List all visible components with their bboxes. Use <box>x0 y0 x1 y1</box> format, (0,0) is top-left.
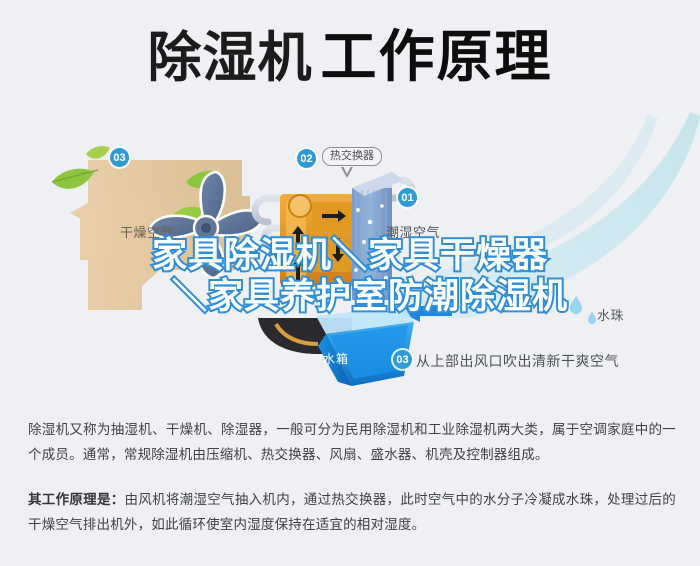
water-tank-graphic <box>316 306 414 386</box>
label-water-tank: 水箱 <box>323 350 349 367</box>
paragraph-principle: 其工作原理是：由风机将潮湿空气抽入机内，通过热交换器，此时空气中的水分子冷凝成水… <box>28 488 676 538</box>
label-outlet-note: 从上部出风口吹出清新干爽空气 <box>416 351 619 371</box>
label-dry-air: 干燥空气 <box>120 222 174 241</box>
step-badge-02: 02 <box>297 149 316 168</box>
page-title-primary: 除湿机 <box>148 31 313 85</box>
page-title-secondary: 工作原理 <box>321 30 553 86</box>
callout-tail-icon <box>341 167 353 178</box>
step-badge-01: 01 <box>398 188 417 207</box>
paragraph-intro: 除湿机又称为抽湿机、干燥机、除湿器，一般可分为民用除湿机和工业除湿机两大类，属于… <box>28 418 676 468</box>
paragraph-principle-rest: 由风机将潮湿空气抽入机内，通过热交换器，此时空气中的水分子冷凝成水珠，处理过后的… <box>28 492 676 533</box>
heat-exchanger-callout: 热交换器 <box>322 147 382 166</box>
dehumidifier-diagram: 01 02 03 03 热交换器 潮湿空气 干燥空气 水珠 水箱 从上部出风口吹… <box>0 110 700 400</box>
page-title: 除湿机 工作原理 <box>0 22 700 94</box>
label-water-drops: 水珠 <box>597 305 624 324</box>
step-badge-03-dry-air: 03 <box>110 148 129 167</box>
step-badge-03-outlet: 03 <box>393 350 412 369</box>
article-body: 除湿机又称为抽湿机、干燥机、除湿器，一般可分为民用除湿机和工业除湿机两大类，属于… <box>28 418 676 538</box>
compressor-coils <box>280 194 354 286</box>
water-droplets <box>570 296 596 324</box>
label-moist-air: 潮湿空气 <box>386 222 440 241</box>
infographic-page: 除湿机 工作原理 <box>0 0 700 566</box>
paragraph-principle-lead: 其工作原理是： <box>28 492 125 508</box>
